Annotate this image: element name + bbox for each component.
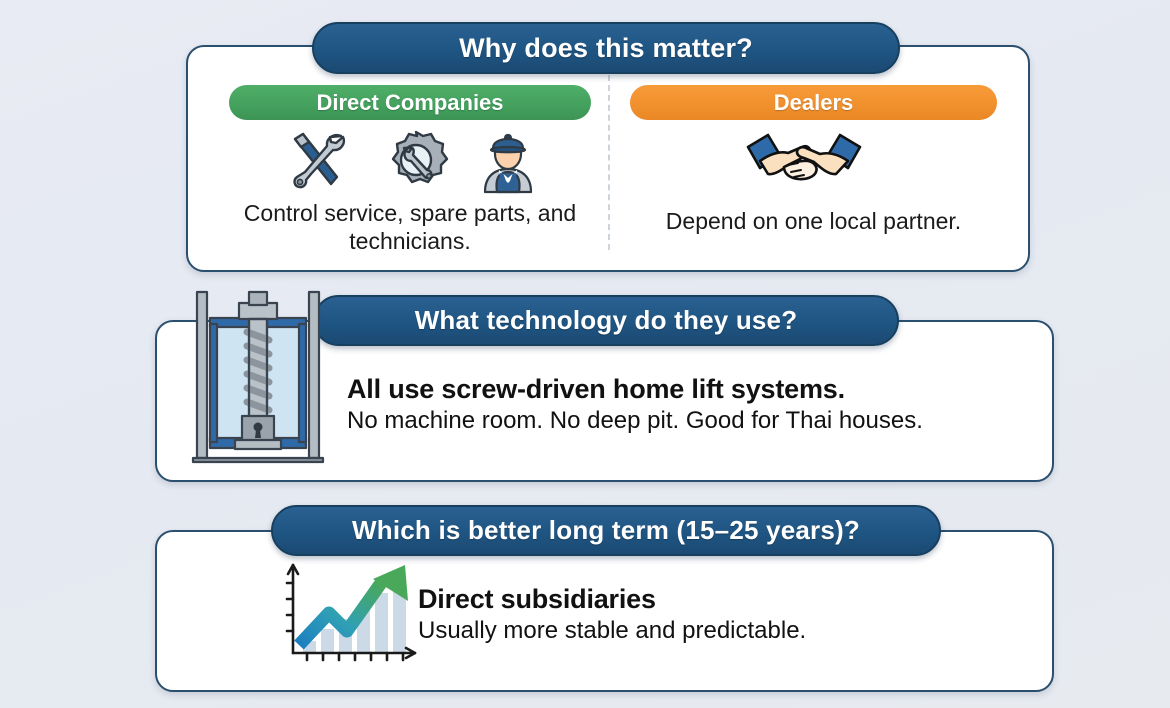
gear-wrench-icon: [381, 129, 451, 193]
handshake-icon: [744, 127, 864, 195]
technology-subtext: No machine room. No deep pit. Good for T…: [347, 406, 1037, 436]
column-divider: [608, 75, 610, 250]
tools-icon: [281, 130, 355, 192]
screw-lift-icon: [183, 288, 333, 478]
long-term-text-block: Direct subsidiaries Usually more stable …: [418, 583, 978, 646]
long-term-subtext: Usually more stable and predictable.: [418, 616, 978, 646]
card-why-matter-title: Why does this matter?: [312, 22, 900, 74]
technology-text-block: All use screw-driven home lift systems. …: [347, 373, 1037, 436]
long-term-headline: Direct subsidiaries: [418, 583, 978, 616]
card-technology-title: What technology do they use?: [313, 295, 899, 346]
technology-headline: All use screw-driven home lift systems.: [347, 373, 1037, 406]
dealers-caption: Depend on one local partner.: [630, 208, 997, 236]
direct-companies-caption: Control service, spare parts, and techni…: [229, 200, 591, 255]
direct-companies-icon-row: [240, 127, 580, 195]
infographic-stage: Why does this matter? Direct Companies D…: [0, 0, 1170, 708]
technician-icon: [477, 128, 539, 194]
card-long-term-title: Which is better long term (15–25 years)?: [271, 505, 941, 556]
column-label-dealers: Dealers: [630, 85, 997, 120]
growth-chart-icon: [277, 557, 427, 672]
column-label-direct-companies: Direct Companies: [229, 85, 591, 120]
